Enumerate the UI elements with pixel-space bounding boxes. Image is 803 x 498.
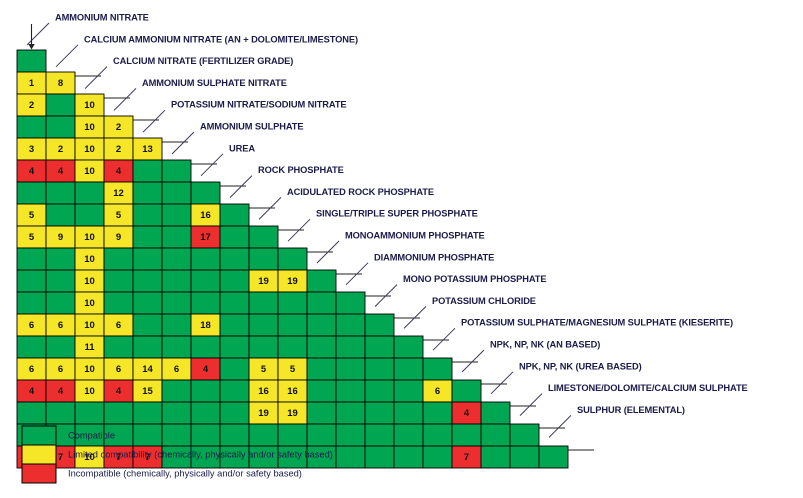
matrix-cell[interactable] (17, 270, 46, 292)
product-label[interactable]: UREA (229, 143, 255, 153)
matrix-cell-value: 10 (84, 276, 95, 287)
matrix-cell[interactable] (394, 336, 423, 358)
matrix-cell[interactable] (162, 380, 191, 402)
matrix-cell-value: 10 (84, 364, 95, 375)
matrix-cell-value: 4 (116, 166, 122, 177)
matrix-cell-value: 10 (84, 298, 95, 309)
matrix-cell-value: 19 (287, 276, 298, 287)
matrix-cell[interactable] (278, 314, 307, 336)
matrix-cell[interactable] (365, 446, 394, 468)
matrix-cell[interactable] (220, 248, 249, 270)
matrix-cell-value: 10 (84, 166, 95, 177)
matrix-cell[interactable] (394, 380, 423, 402)
product-label[interactable]: POTASSIUM NITRATE/SODIUM NITRATE (171, 100, 347, 110)
matrix-cell-value: 6 (29, 364, 34, 375)
product-label[interactable]: ROCK PHOSPHATE (258, 165, 344, 175)
matrix-cell-value: 2 (58, 144, 63, 155)
matrix-cell[interactable] (133, 336, 162, 358)
matrix-cell[interactable] (46, 116, 75, 138)
matrix-cell[interactable] (191, 380, 220, 402)
matrix-cell[interactable] (336, 292, 365, 314)
matrix-cell[interactable] (278, 336, 307, 358)
matrix-cell[interactable] (249, 336, 278, 358)
matrix-cell-value: 11 (84, 342, 95, 353)
compatibility-chart: 1821010232102134410412551659109171010191… (0, 0, 803, 498)
matrix-cell[interactable] (162, 314, 191, 336)
matrix-cell[interactable] (46, 94, 75, 116)
matrix-cell-value: 4 (203, 364, 209, 375)
matrix-cell[interactable] (481, 446, 510, 468)
product-label[interactable]: ACIDULATED ROCK PHOSPHATE (287, 187, 434, 197)
matrix-cell[interactable] (307, 424, 336, 446)
matrix-cell[interactable] (220, 336, 249, 358)
product-label[interactable]: LIMESTONE/DOLOMITE/CALCIUM SULPHATE (548, 383, 748, 393)
matrix-cell[interactable] (307, 270, 336, 292)
matrix-cell[interactable] (191, 182, 220, 204)
matrix-cell[interactable] (423, 358, 452, 380)
matrix-cell[interactable] (423, 402, 452, 424)
matrix-cell[interactable] (75, 204, 104, 226)
matrix-cell-value: 4 (58, 166, 64, 177)
matrix-cell-value: 9 (58, 232, 63, 243)
matrix-cell[interactable] (133, 292, 162, 314)
matrix-cell[interactable] (133, 204, 162, 226)
matrix-cell[interactable] (162, 182, 191, 204)
matrix-cell[interactable] (46, 248, 75, 270)
matrix-cell-value: 4 (464, 408, 470, 419)
matrix-cell[interactable] (220, 380, 249, 402)
matrix-cell[interactable] (365, 358, 394, 380)
matrix-cell[interactable] (539, 446, 568, 468)
matrix-cell-value: 8 (58, 78, 63, 89)
matrix-cell[interactable] (249, 314, 278, 336)
matrix-cell-value: 5 (29, 232, 35, 243)
legend-swatch (22, 445, 56, 464)
matrix-cell-value: 10 (84, 232, 95, 243)
matrix-cell-value: 4 (58, 386, 64, 397)
product-label[interactable]: CALCIUM AMMONIUM NITRATE (AN + DOLOMITE/… (84, 34, 358, 44)
matrix-cell[interactable] (220, 424, 249, 446)
matrix-cell[interactable] (336, 380, 365, 402)
matrix-cell-value: 1 (29, 78, 35, 89)
matrix-cell[interactable] (452, 380, 481, 402)
matrix-cell-value: 18 (200, 320, 211, 331)
matrix-cell-value: 3 (29, 144, 34, 155)
matrix-cell[interactable] (46, 402, 75, 424)
product-label[interactable]: AMMONIUM NITRATE (55, 12, 149, 22)
matrix-cell[interactable] (162, 270, 191, 292)
chart-canvas: 1821010232102134410412551659109171010191… (0, 0, 803, 498)
matrix-cell[interactable] (104, 402, 133, 424)
legend-label: Compatible (68, 430, 115, 440)
legend-label: Incompatible (chemically, physically and… (68, 468, 302, 478)
matrix-cell[interactable] (365, 336, 394, 358)
matrix-cell-value: 4 (29, 166, 35, 177)
product-label[interactable]: AMMONIUM SULPHATE NITRATE (142, 78, 287, 88)
matrix-cell[interactable] (191, 270, 220, 292)
matrix-cell-value: 10 (84, 122, 95, 133)
matrix-cell[interactable] (423, 446, 452, 468)
matrix-cell-value: 6 (29, 320, 34, 331)
matrix-cell-value: 7 (58, 452, 63, 463)
matrix-cell[interactable] (249, 424, 278, 446)
product-label[interactable]: SINGLE/TRIPLE SUPER PHOSPHATE (316, 209, 478, 219)
matrix-cell[interactable] (162, 402, 191, 424)
matrix-cell-value: 10 (84, 386, 95, 397)
matrix-cell[interactable] (336, 424, 365, 446)
matrix-cell-value: 10 (84, 144, 95, 155)
matrix-cell[interactable] (510, 446, 539, 468)
product-label[interactable]: POTASSIUM SULPHATE/MAGNESIUM SULPHATE (K… (461, 318, 733, 328)
matrix-cell[interactable] (104, 270, 133, 292)
matrix-cell[interactable] (46, 292, 75, 314)
matrix-cell-value: 16 (258, 386, 269, 397)
matrix-cell-value: 4 (116, 386, 122, 397)
matrix-cell[interactable] (191, 424, 220, 446)
matrix-cell[interactable] (394, 424, 423, 446)
matrix-cell[interactable] (278, 424, 307, 446)
legend-swatch (22, 464, 56, 483)
matrix-cell[interactable] (220, 226, 249, 248)
matrix-cell[interactable] (394, 446, 423, 468)
matrix-cell[interactable] (336, 446, 365, 468)
product-label[interactable]: MONOAMMONIUM PHOSPHATE (345, 230, 485, 240)
matrix-cell[interactable] (307, 358, 336, 380)
matrix-cell[interactable] (220, 402, 249, 424)
matrix-cell[interactable] (133, 226, 162, 248)
matrix-cell[interactable] (394, 402, 423, 424)
matrix-cell[interactable] (220, 270, 249, 292)
matrix-cell-value: 19 (258, 408, 269, 419)
matrix-cell[interactable] (249, 292, 278, 314)
matrix-cell-value: 7 (464, 452, 469, 463)
matrix-cell[interactable] (452, 424, 481, 446)
matrix-cell-value: 6 (116, 364, 121, 375)
matrix-cell[interactable] (162, 336, 191, 358)
matrix-cell[interactable] (365, 314, 394, 336)
matrix-cell-value: 15 (142, 386, 153, 397)
product-label[interactable]: CALCIUM NITRATE (FERTILIZER GRADE) (113, 56, 293, 66)
matrix-cell-value: 12 (113, 188, 124, 199)
matrix-cell-value: 10 (84, 100, 95, 111)
legend-swatch (22, 426, 56, 445)
matrix-cell[interactable] (17, 292, 46, 314)
matrix-cell[interactable] (133, 248, 162, 270)
matrix-cell[interactable] (162, 160, 191, 182)
matrix-cell[interactable] (249, 248, 278, 270)
matrix-cell[interactable] (220, 358, 249, 380)
matrix-cell[interactable] (510, 424, 539, 446)
matrix-cell[interactable] (75, 182, 104, 204)
matrix-cell[interactable] (481, 402, 510, 424)
matrix-cell[interactable] (423, 424, 452, 446)
matrix-cell[interactable] (133, 424, 162, 446)
matrix-cell[interactable] (133, 402, 162, 424)
matrix-cell[interactable] (46, 336, 75, 358)
matrix-cell[interactable] (75, 402, 104, 424)
matrix-cell-value: 16 (287, 386, 298, 397)
matrix-cell-value: 6 (435, 386, 440, 397)
matrix-cell[interactable] (191, 292, 220, 314)
matrix-cell-value: 5 (261, 364, 267, 375)
matrix-cell[interactable] (17, 248, 46, 270)
matrix-cell[interactable] (278, 248, 307, 270)
matrix-cell[interactable] (162, 292, 191, 314)
matrix-cell[interactable] (17, 116, 46, 138)
matrix-cell[interactable] (394, 358, 423, 380)
matrix-cell-value: 16 (200, 210, 211, 221)
matrix-cell[interactable] (336, 358, 365, 380)
matrix-cell[interactable] (220, 314, 249, 336)
matrix-cell-value: 10 (84, 254, 95, 265)
matrix-cell[interactable] (46, 204, 75, 226)
matrix-cell[interactable] (365, 402, 394, 424)
matrix-cell-value: 14 (142, 364, 153, 375)
product-label[interactable]: NPK, NP, NK (AN BASED) (490, 339, 600, 349)
matrix-cell[interactable] (365, 380, 394, 402)
matrix-cell-value: 2 (116, 122, 121, 133)
matrix-cell[interactable] (191, 336, 220, 358)
product-label[interactable]: NPK, NP, NK (UREA BASED) (519, 361, 642, 371)
matrix-cell[interactable] (336, 402, 365, 424)
product-label[interactable]: DIAMMONIUM PHOSPHATE (374, 252, 494, 262)
matrix-cell-value: 10 (84, 320, 95, 331)
matrix-cell[interactable] (336, 314, 365, 336)
matrix-cell[interactable] (307, 292, 336, 314)
matrix-cell[interactable] (162, 248, 191, 270)
matrix-cell[interactable] (307, 336, 336, 358)
matrix-cell-value: 17 (200, 232, 211, 243)
product-label[interactable]: SULPHUR (ELEMENTAL) (577, 405, 685, 415)
matrix-cell[interactable] (133, 160, 162, 182)
matrix-cell[interactable] (17, 402, 46, 424)
matrix-cell-value: 2 (29, 100, 34, 111)
matrix-cell[interactable] (278, 292, 307, 314)
matrix-cell[interactable] (104, 292, 133, 314)
matrix-cell[interactable] (133, 182, 162, 204)
matrix-cell[interactable] (162, 226, 191, 248)
matrix-cell-value: 4 (29, 386, 35, 397)
matrix-cell-value: 6 (174, 364, 179, 375)
matrix-cell-value: 6 (58, 320, 63, 331)
matrix-cell-value: 5 (29, 210, 35, 221)
matrix-cell[interactable] (46, 182, 75, 204)
matrix-cell-value: 6 (58, 364, 63, 375)
matrix-cell-value: 6 (116, 320, 121, 331)
matrix-cell[interactable] (191, 402, 220, 424)
matrix-cell[interactable] (220, 204, 249, 226)
product-label[interactable]: POTASSIUM CHLORIDE (432, 296, 536, 306)
matrix-cell-value: 2 (116, 144, 121, 155)
matrix-cell-value: 19 (258, 276, 269, 287)
matrix-cell-value: 19 (287, 408, 298, 419)
matrix-cell[interactable] (46, 270, 75, 292)
matrix-cell[interactable] (307, 314, 336, 336)
matrix-cell[interactable] (307, 380, 336, 402)
legend-label: Limited compatibility (chemically, physi… (68, 449, 333, 459)
product-label[interactable]: MONO POTASSIUM PHOSPHATE (403, 274, 546, 284)
matrix-cell-value: 13 (142, 144, 153, 155)
matrix-cell[interactable] (104, 336, 133, 358)
matrix-cell[interactable] (133, 314, 162, 336)
matrix-cell[interactable] (191, 248, 220, 270)
matrix-cell[interactable] (17, 336, 46, 358)
matrix-cell[interactable] (162, 204, 191, 226)
matrix-cell[interactable] (220, 292, 249, 314)
matrix-cell[interactable] (307, 402, 336, 424)
matrix-cell[interactable] (336, 336, 365, 358)
matrix-cell[interactable] (17, 182, 46, 204)
product-label[interactable]: AMMONIUM SULPHATE (200, 121, 304, 131)
matrix-cell-value: 5 (290, 364, 296, 375)
matrix-cell[interactable] (17, 50, 46, 72)
matrix-cell[interactable] (104, 248, 133, 270)
matrix-cell[interactable] (162, 424, 191, 446)
matrix-cell[interactable] (249, 226, 278, 248)
matrix-cell[interactable] (365, 424, 394, 446)
matrix-cell-value: 9 (116, 232, 121, 243)
matrix-cell[interactable] (481, 424, 510, 446)
matrix-cell-value: 5 (116, 210, 122, 221)
matrix-cell[interactable] (133, 270, 162, 292)
